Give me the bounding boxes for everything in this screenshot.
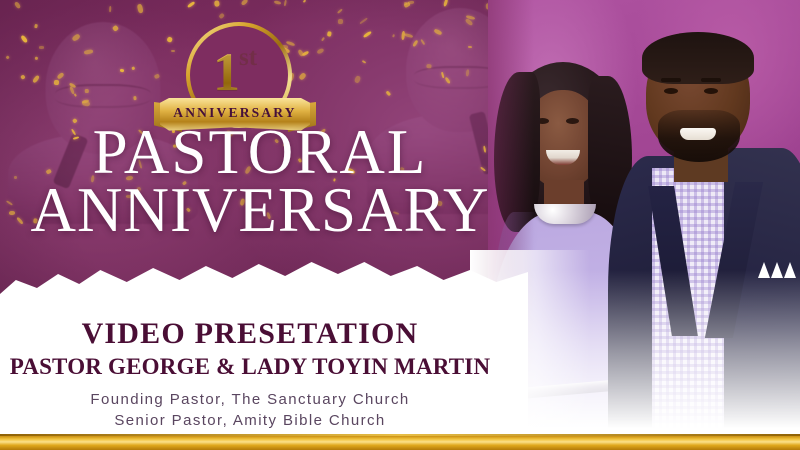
eyebrow-left (661, 78, 681, 82)
eye-right (704, 88, 718, 94)
hair (642, 32, 754, 84)
badge-ordinal-number: 1 (213, 41, 239, 103)
eye-right (566, 118, 579, 124)
page-title: PASTORAL ANNIVERSARY (0, 124, 520, 240)
smile (680, 128, 716, 140)
speaker-role-line-1: Founding Pastor, The Sanctuary Church (0, 389, 500, 411)
eye-left (664, 88, 678, 94)
badge-ordinal-suffix: st (239, 43, 257, 71)
anniversary-flyer: 1st ANNIVERSARY PASTORAL ANNIVERSARY VID… (0, 0, 800, 450)
event-type-label: VIDEO PRESETATION (0, 317, 500, 351)
event-details: VIDEO PRESETATION PASTOR GEORGE & LADY T… (0, 317, 500, 433)
speaker-names: PASTOR GEORGE & LADY TOYIN MARTIN (0, 354, 500, 380)
title-line-1: PASTORAL (0, 124, 520, 182)
title-line-2: ANNIVERSARY (0, 182, 520, 240)
bottom-gold-bar (0, 436, 800, 450)
eyebrow-right (701, 78, 721, 82)
speaker-role-line-2: Senior Pastor, Amity Bible Church (0, 410, 500, 432)
